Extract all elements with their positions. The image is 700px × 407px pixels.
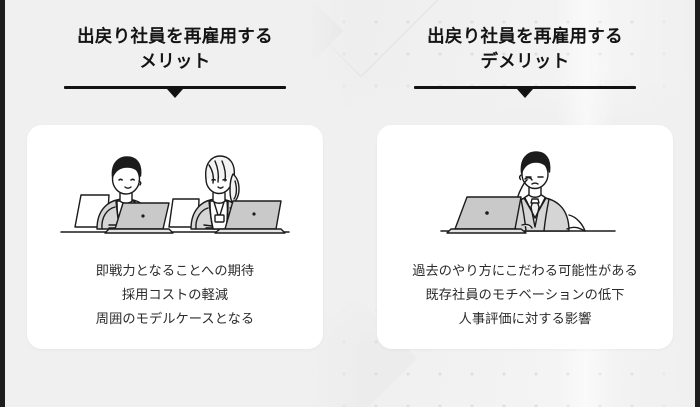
column-merit: 出戻り社員を再雇用する メリット	[0, 0, 350, 407]
comparison-columns: 出戻り社員を再雇用する メリット	[0, 0, 700, 407]
merit-divider	[64, 86, 286, 102]
demerit-points-list: 過去のやり方にこだわる可能性がある 既存社員のモチベーションの低下 人事評価に対…	[412, 259, 638, 331]
frame-edge-left	[0, 0, 5, 407]
list-item: 周囲のモデルケースとなる	[96, 307, 254, 331]
merit-card: 即戦力となることへの期待 採用コストの軽減 周囲のモデルケースとなる	[27, 125, 323, 349]
demerit-card: 過去のやり方にこだわる可能性がある 既存社員のモチベーションの低下 人事評価に対…	[377, 125, 673, 349]
two-people-laptops-illustration	[57, 141, 293, 245]
merit-heading: 出戻り社員を再雇用する メリット	[77, 24, 273, 75]
demerit-divider	[414, 86, 636, 102]
merit-heading-line1: 出戻り社員を再雇用する	[77, 26, 273, 46]
merit-heading-line2: メリット	[77, 49, 273, 74]
demerit-heading-line1: 出戻り社員を再雇用する	[427, 26, 623, 46]
demerit-heading: 出戻り社員を再雇用する デメリット	[427, 24, 623, 75]
demerit-heading-line2: デメリット	[427, 49, 623, 74]
list-item: 過去のやり方にこだわる可能性がある	[412, 259, 638, 283]
infographic-canvas: 出戻り社員を再雇用する メリット	[0, 0, 700, 407]
list-item: 人事評価に対する影響	[412, 307, 638, 331]
list-item: 採用コストの軽減	[96, 283, 254, 307]
down-triangle-icon	[167, 89, 183, 98]
column-demerit: 出戻り社員を再雇用する デメリット	[350, 0, 700, 407]
list-item: 既存社員のモチベーションの低下	[412, 283, 638, 307]
merit-points-list: 即戦力となることへの期待 採用コストの軽減 周囲のモデルケースとなる	[96, 259, 254, 331]
down-triangle-icon	[517, 89, 533, 98]
frame-edge-right	[695, 0, 700, 407]
list-item: 即戦力となることへの期待	[96, 259, 254, 283]
troubled-businessman-laptop-illustration	[425, 141, 625, 245]
